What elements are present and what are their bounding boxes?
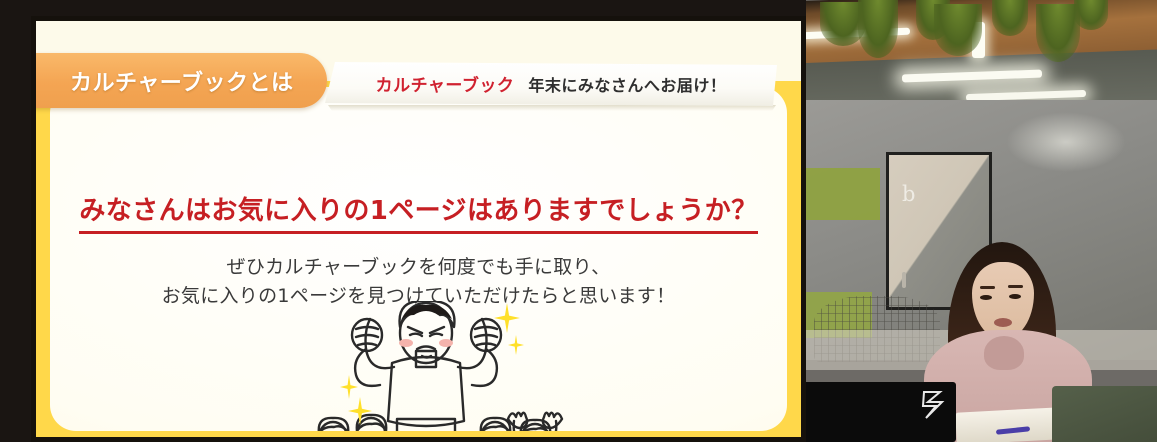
slide-headline: みなさんはお気に入りの1ページはありますでしょうか？ [50, 195, 787, 234]
hanging-plant-icon [934, 4, 982, 56]
illustration-artwork [296, 301, 564, 431]
presenter-eye [980, 295, 992, 300]
slide-background: みなさんはお気に入りの1ページはありますでしょうか？ ぜひカルチャーブックを何度… [36, 21, 801, 437]
presenter-video-feed[interactable]: b NEC [806, 0, 1157, 442]
presentation-slide-frame[interactable]: みなさんはお気に入りの1ページはありますでしょうか？ ぜひカルチャーブックを何度… [31, 16, 806, 442]
hanging-plant-icon [1074, 0, 1108, 30]
wall-light-glow [1006, 112, 1126, 172]
banner-shadow [328, 105, 776, 111]
presenter-blouse-collar [984, 336, 1024, 370]
hanging-plant-icon [858, 0, 898, 58]
slide-content-card: みなさんはお気に入りの1ページはありますでしょうか？ ぜひカルチャーブックを何度… [50, 87, 787, 431]
slide-banner-highlight: カルチャーブック [376, 71, 515, 96]
slide-headline-text: みなさんはお気に入りの1ページはありますでしょうか？ [79, 195, 757, 234]
door-logo: b [902, 182, 922, 206]
screenshare-screen: b NEC みなさんはお気に入りの1ページはありますでしょうか [0, 0, 1157, 442]
presenter-eyebrow [1008, 285, 1023, 288]
door-handle [902, 272, 906, 288]
green-laptop [1052, 386, 1157, 442]
slide-body-line: ぜひカルチャーブックを何度でも手に取り、 [50, 253, 787, 282]
hanging-plant-icon [992, 0, 1028, 36]
slide-section-tab[interactable]: カルチャーブックとは [31, 53, 327, 108]
laptop-sticker-icon [918, 388, 948, 422]
strong-man-with-children-illustration [296, 301, 564, 431]
open-book [955, 407, 1061, 442]
slide-section-tab-label: カルチャーブックとは [70, 65, 293, 97]
green-wall-panel [806, 168, 880, 220]
slide-banner-text: 年末にみなさんへお届け！ [528, 72, 726, 96]
presenter-eye [1009, 294, 1021, 299]
slide-banner: カルチャーブック 年末にみなさんへお届け！ [325, 62, 777, 106]
presenter-mouth [994, 318, 1012, 327]
presenter-eyebrow [980, 286, 995, 289]
